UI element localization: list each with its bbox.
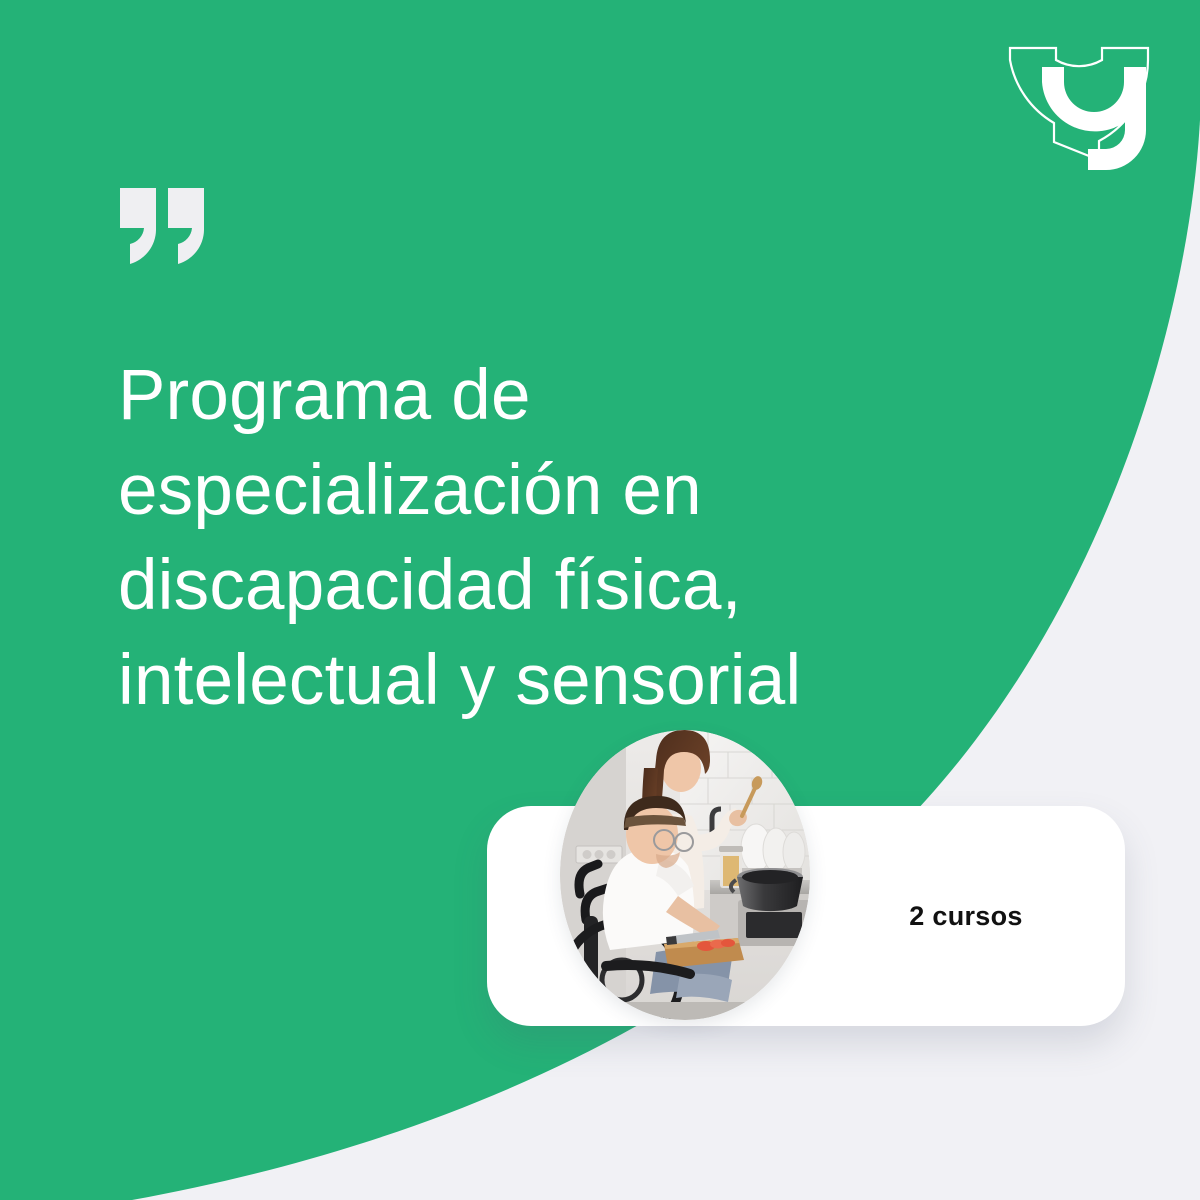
- quotation-mark-icon: [118, 186, 218, 266]
- page-title: Programa de especialización en discapaci…: [118, 348, 998, 728]
- promo-card-canvas: Programa de especialización en discapaci…: [0, 0, 1200, 1200]
- course-thumbnail-photo: [560, 730, 810, 1020]
- y-brand-logo: [1002, 30, 1152, 175]
